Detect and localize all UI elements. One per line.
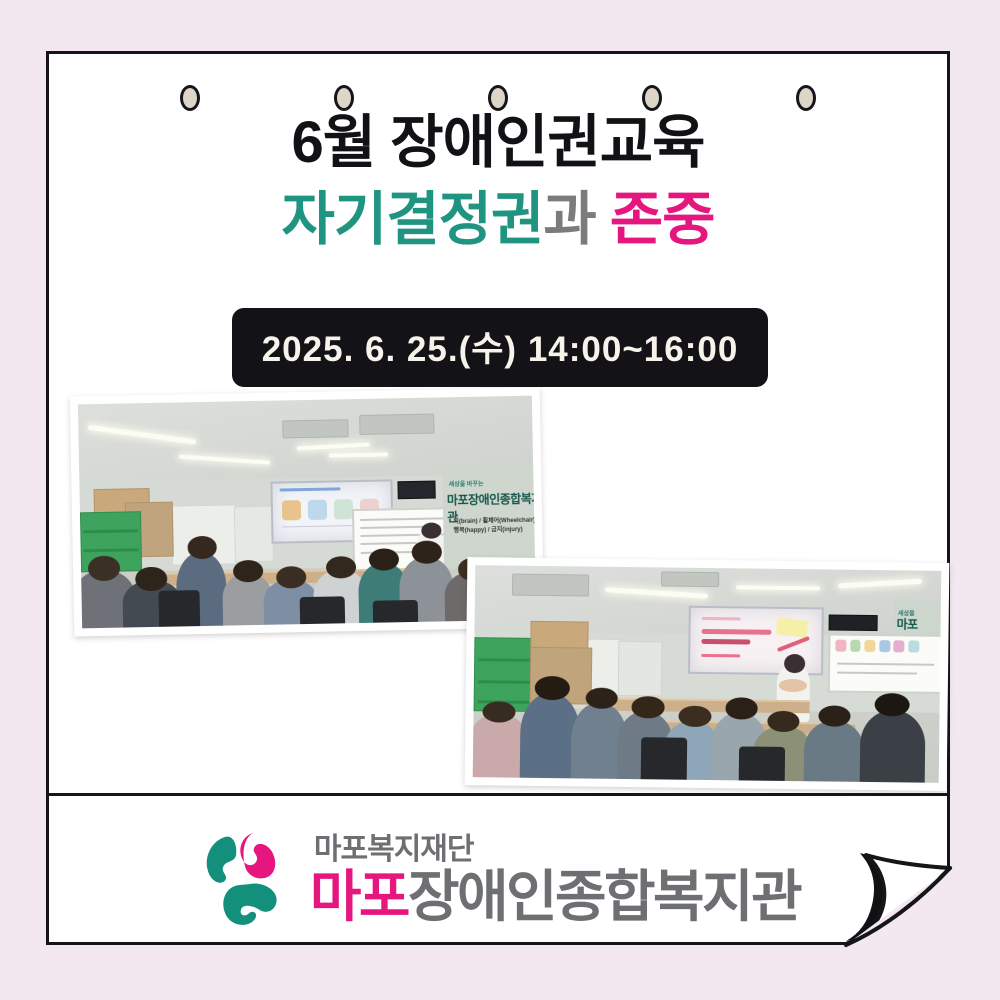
slide-sticky-note [776, 618, 809, 638]
slide-figure [334, 499, 353, 519]
classroom-lecture-photo-2: 세상을 마포 [465, 557, 950, 791]
wall-monitor [397, 480, 436, 498]
audience-head [818, 705, 851, 727]
air-vent-icon [360, 413, 435, 434]
banner-large-text: 마포 [897, 615, 918, 632]
air-vent-icon [512, 574, 589, 596]
slide-headline [701, 628, 772, 635]
audience-head [534, 676, 569, 700]
presenter-hands [779, 679, 807, 692]
page-subtitle: 자기결정권과존중 [46, 185, 950, 256]
banner-note-text: 뇌(brain) / 휠체어(Wheelchair) / 행복(happy) /… [453, 516, 536, 536]
letter-card [835, 640, 846, 652]
air-vent-icon [661, 572, 719, 587]
letter-card [864, 640, 875, 652]
slide-footer [701, 654, 740, 658]
slide-figure [282, 500, 301, 520]
banner-small-text: 세상을 바꾸는 [449, 478, 484, 488]
chair [640, 737, 687, 780]
subtitle-segment-pink: 존중 [610, 187, 715, 252]
slide-pencil [777, 636, 810, 652]
wall-banner: 세상을 바꾸는 마포장애인종합복지관 뇌(brain) / 휠체어(Wheelc… [442, 463, 536, 568]
organization-logo: 마포복지재단 마포장애인종합복지관 [46, 816, 950, 944]
logo-text-block: 마포복지재단 마포장애인종합복지관 [310, 835, 800, 925]
footer-divider [46, 793, 950, 796]
center-name: 마포장애인종합복지관 [310, 869, 800, 925]
flower-logo-icon [196, 831, 294, 929]
subtitle-segment-gray: 과 [543, 187, 595, 252]
slide-figure [308, 500, 327, 520]
photo-2-scene: 세상을 마포 [473, 565, 942, 783]
audience-head [483, 701, 516, 723]
audience-head [678, 705, 711, 727]
date-banner-row: 2025. 6. 25.(수) 14:00~16:00 [0, 308, 1000, 387]
headline-block: 6월 장애인권교육 자기결정권과존중 [46, 110, 950, 255]
wall-panel [618, 641, 663, 697]
chair [159, 590, 201, 627]
page-title: 6월 장애인권교육 [46, 110, 950, 177]
subtitle-segment-teal: 자기결정권 [282, 187, 544, 252]
audience-head [874, 693, 909, 717]
presenter-head [784, 654, 805, 673]
letter-card [850, 640, 861, 652]
audience-head [88, 556, 120, 581]
air-vent-icon [283, 419, 349, 438]
letter-card [893, 640, 904, 652]
whiteboard-writing [837, 672, 917, 675]
audience-head [412, 541, 442, 564]
poster-canvas: 6월 장애인권교육 자기결정권과존중 2025. 6. 25.(수) 14:00… [0, 0, 1000, 1000]
chair [738, 746, 785, 780]
audience-head [725, 698, 758, 720]
letter-card [879, 640, 890, 652]
chair [372, 599, 418, 622]
chair [300, 596, 346, 624]
petal-pink-top [240, 833, 275, 878]
petal-teal-left [207, 837, 237, 883]
whiteboard-writing [361, 517, 449, 521]
center-name-rest: 장애인종합복지관 [408, 865, 800, 928]
whiteboard [828, 633, 941, 694]
whiteboard-writing [838, 663, 935, 666]
audience-head [632, 696, 665, 718]
audience-member [804, 720, 865, 782]
wall-sign-plate [829, 614, 878, 631]
center-name-accent: 마포 [310, 865, 408, 928]
foundation-name: 마포복지재단 [314, 835, 800, 865]
audience-member [859, 710, 925, 783]
slide-title-bar [279, 487, 340, 491]
slide-title-text [701, 617, 740, 621]
letter-card [908, 640, 919, 652]
wall-panel [234, 506, 273, 562]
petal-teal-bottom [223, 884, 276, 925]
audience-head [187, 536, 217, 559]
date-badge: 2025. 6. 25.(수) 14:00~16:00 [232, 308, 769, 387]
slide-headline [701, 639, 751, 645]
